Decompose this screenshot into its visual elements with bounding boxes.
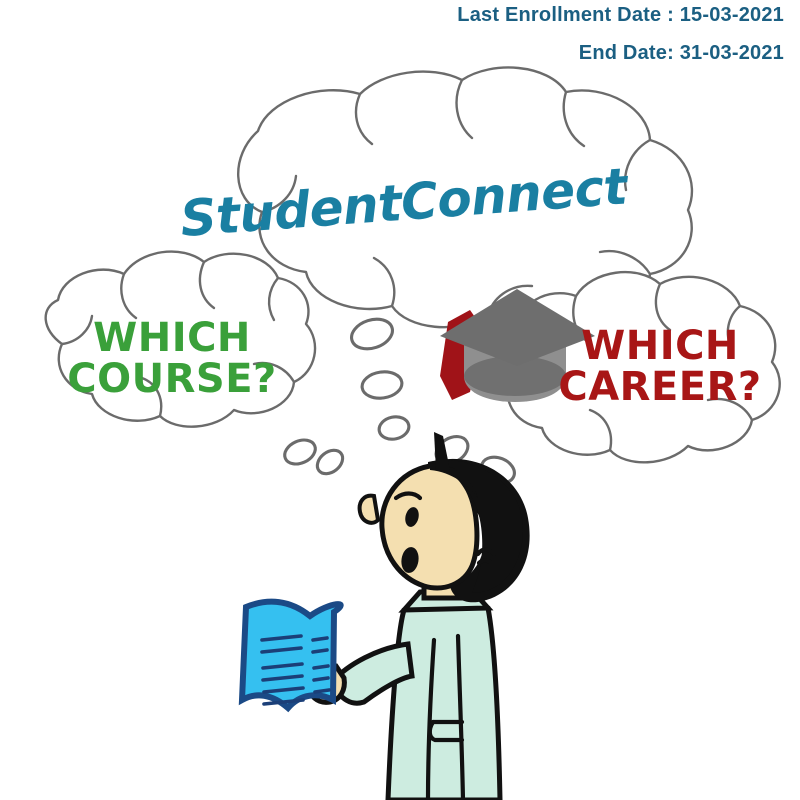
thought-trail-bubble bbox=[377, 414, 411, 442]
student-figure-icon bbox=[242, 432, 530, 800]
thought-trail-bubble bbox=[281, 435, 319, 468]
illustration-artboard: .cloudpath { fill:#ffffff; stroke:#6b6b6… bbox=[0, 0, 800, 800]
poster-canvas: .cloudpath { fill:#ffffff; stroke:#6b6b6… bbox=[0, 0, 800, 800]
thought-trail-bubble bbox=[313, 446, 347, 479]
student-coat bbox=[388, 600, 500, 800]
open-book-icon bbox=[242, 602, 341, 708]
thought-trail-bubble bbox=[360, 369, 403, 400]
thought-cloud-course bbox=[46, 252, 319, 469]
end-date-text: End Date: 31-03-2021 bbox=[579, 42, 784, 65]
thought-trail-bubble bbox=[348, 314, 397, 354]
last-enrollment-date-text: Last Enrollment Date : 15-03-2021 bbox=[457, 4, 784, 27]
student-ear-left bbox=[360, 496, 378, 523]
